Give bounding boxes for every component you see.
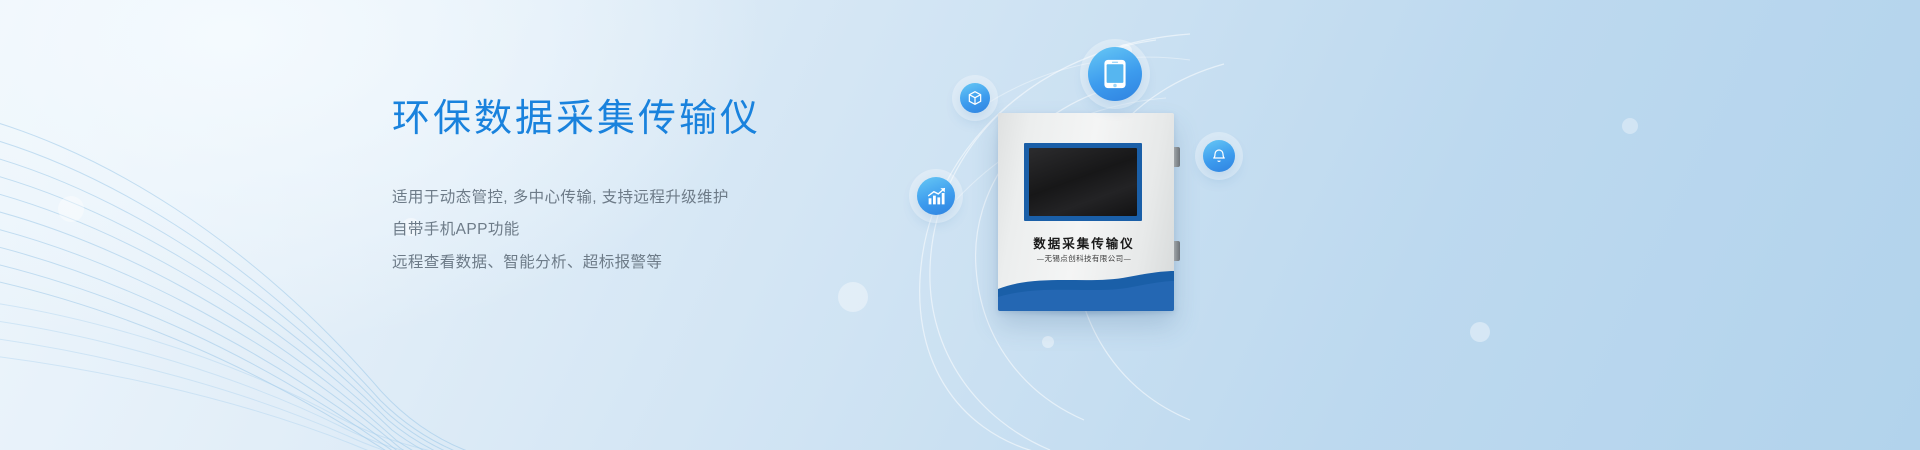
description-line-1: 适用于动态管控, 多中心传输, 支持远程升级维护 <box>392 182 912 215</box>
chart-icon <box>917 177 955 215</box>
banner-description: 适用于动态管控, 多中心传输, 支持远程升级维护 自带手机APP功能 远程查看数… <box>392 182 912 280</box>
description-line-2: 自带手机APP功能 <box>392 214 912 247</box>
page-title: 环保数据采集传输仪 <box>392 96 912 144</box>
device-screen-glass <box>1029 148 1137 216</box>
device-screen <box>1024 143 1142 221</box>
banner-copy: 环保数据采集传输仪 适用于动态管控, 多中心传输, 支持远程升级维护 自带手机A… <box>392 96 912 279</box>
device-hinge <box>1174 147 1180 167</box>
device-hinge <box>1174 241 1180 261</box>
bokeh-circle <box>1622 118 1638 134</box>
decorative-orbit-arcs <box>860 0 1500 450</box>
product-hero-banner: 环保数据采集传输仪 适用于动态管控, 多中心传输, 支持远程升级维护 自带手机A… <box>0 0 1920 450</box>
alarm-icon <box>1203 140 1235 172</box>
description-line-3: 远程查看数据、智能分析、超标报警等 <box>392 247 912 280</box>
phone-icon <box>1088 47 1142 101</box>
device-base-wave <box>998 271 1174 311</box>
product-scene: 数据采集传输仪 —无锡点创科技有限公司— <box>860 0 1500 450</box>
bokeh-circle <box>58 196 84 222</box>
device-panel-label: 数据采集传输仪 <box>998 233 1170 252</box>
cube-icon <box>960 83 990 113</box>
device-panel-sublabel: —无锡点创科技有限公司— <box>998 253 1170 264</box>
device-cabinet: 数据采集传输仪 —无锡点创科技有限公司— <box>998 113 1174 311</box>
